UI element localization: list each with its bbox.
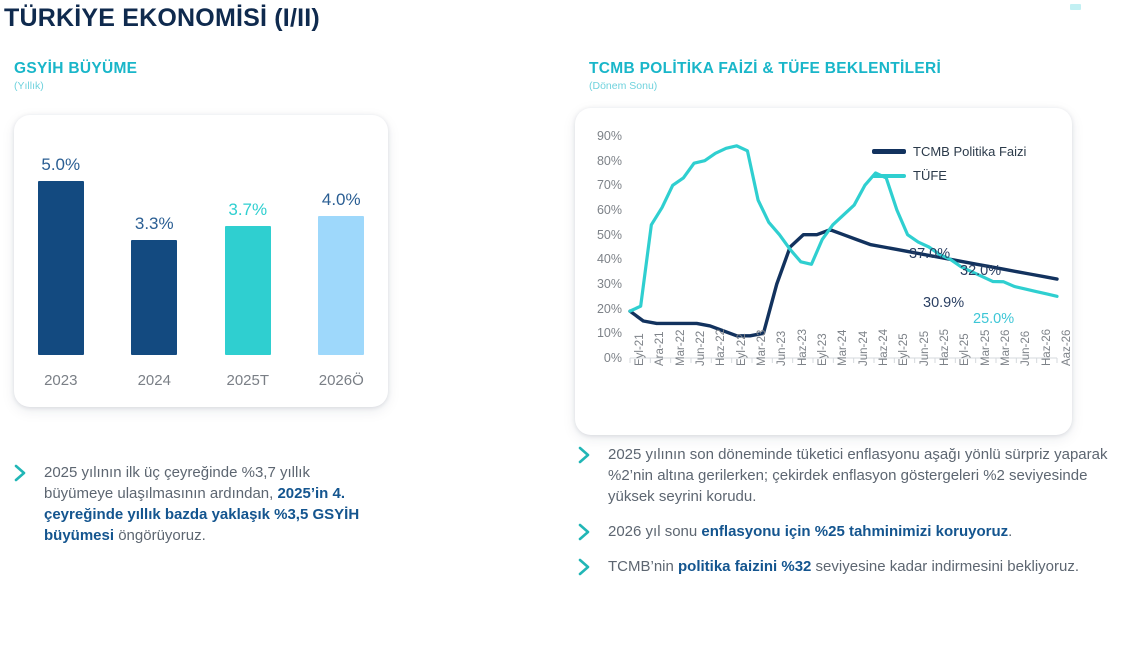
chevron-right-icon <box>578 444 600 464</box>
chevron-right-icon <box>14 462 36 482</box>
legend-item-cpi[interactable]: TÜFE <box>872 168 947 183</box>
slide-root: TÜRKİYE EKONOMİSİ (I/II) GSYİH BÜYÜME (Y… <box>0 0 1129 671</box>
x-axis-tick-label: Mar-26 <box>1000 330 1012 366</box>
data-annotation: 30.9% <box>923 295 964 311</box>
rate-bullet-text: 2026 yıl sonu enflasyonu için %25 tahmin… <box>608 521 1012 542</box>
x-axis-tick-label: Haz-24 <box>878 329 890 366</box>
x-axis-tick-label: Mar-25 <box>980 330 992 366</box>
gdp-bar-chart: 5.0%20233.3%20243.7%2025T4.0%2026Ö <box>14 115 388 407</box>
x-axis-tick-label: Jun-24 <box>858 331 870 366</box>
x-axis-tick-label: Jun-23 <box>776 331 788 366</box>
x-axis-tick-label: Jun-22 <box>695 331 707 366</box>
x-axis-tick-label: Haz-25 <box>939 329 951 366</box>
x-axis-tick-label: Haz-22 <box>715 329 727 366</box>
x-axis-tick-label: Eyl-21 <box>634 333 646 366</box>
bar-group: 3.7%2025T <box>201 115 295 407</box>
rate-bullet-text: TCMB’nin politika faizini %32 seviyesine… <box>608 556 1079 577</box>
x-axis-tick-label: Mar-24 <box>837 330 849 366</box>
legend-label: TÜFE <box>913 168 947 183</box>
data-annotation: 25.0% <box>973 311 1014 327</box>
x-axis-tick-label: Mar-23 <box>756 330 768 366</box>
bar-2024[interactable] <box>131 240 177 355</box>
rate-bullet-list: 2025 yılının son döneminde tüketici enfl… <box>578 444 1123 591</box>
bar-value-label: 3.7% <box>228 200 267 220</box>
x-axis-tick-label: Jun-26 <box>1020 331 1032 366</box>
rate-section-subtitle: (Dönem Sonu) <box>589 80 941 92</box>
x-axis-tick-label: Eyl-22 <box>736 333 748 366</box>
bar-group: 3.3%2024 <box>108 115 202 407</box>
x-axis-tick-label: Haz-26 <box>1041 329 1053 366</box>
gdp-bullet-item: 2025 yılının ilk üç çeyreğinde %3,7 yıll… <box>14 462 374 546</box>
bar-2026Ö[interactable] <box>318 216 364 355</box>
series-line-cpi <box>630 146 1057 311</box>
rate-chart-card: 0%10%20%30%40%50%60%70%80%90%Eyl-21Ara-2… <box>575 108 1072 435</box>
data-annotation: 37.0% <box>909 246 950 262</box>
gdp-section-subtitle: (Yıllık) <box>14 80 137 92</box>
rate-bullet-item: 2026 yıl sonu enflasyonu için %25 tahmin… <box>578 521 1123 542</box>
x-axis-tick-label: Aaz-26 <box>1061 330 1073 366</box>
gdp-section-heading: GSYİH BÜYÜME (Yıllık) <box>14 60 137 92</box>
rate-bullet-item: 2025 yılının son döneminde tüketici enfl… <box>578 444 1123 507</box>
x-axis-tick-label: Mar-22 <box>675 330 687 366</box>
rate-bullet-text: 2025 yılının son döneminde tüketici enfl… <box>608 444 1123 507</box>
legend-swatch <box>872 149 906 154</box>
x-axis-tick-label: Haz-23 <box>797 329 809 366</box>
rate-bullet-item: TCMB’nin politika faizini %32 seviyesine… <box>578 556 1123 577</box>
bar-category-label: 2025T <box>226 372 269 389</box>
bar-value-label: 4.0% <box>322 190 361 210</box>
x-axis-tick-label: Eyl-25 <box>959 333 971 366</box>
rate-section-title: TCMB POLİTİKA FAİZİ & TÜFE BEKLENTİLERİ <box>589 60 941 78</box>
gdp-section-title: GSYİH BÜYÜME <box>14 60 137 78</box>
bar-category-label: 2026Ö <box>319 372 364 389</box>
x-axis-tick-label: Jun-25 <box>919 331 931 366</box>
bar-value-label: 3.3% <box>135 214 174 234</box>
gdp-bullet-list: 2025 yılının ilk üç çeyreğinde %3,7 yıll… <box>14 462 374 560</box>
bar-value-label: 5.0% <box>41 155 80 175</box>
bar-group: 4.0%2026Ö <box>295 115 389 407</box>
x-axis-tick-label: Eyl-25 <box>898 333 910 366</box>
page-title: TÜRKİYE EKONOMİSİ (I/II) <box>4 4 320 33</box>
bar-2023[interactable] <box>38 181 84 355</box>
bar-category-label: 2024 <box>138 372 171 389</box>
bar-category-label: 2023 <box>44 372 77 389</box>
rate-line-chart: 0%10%20%30%40%50%60%70%80%90%Eyl-21Ara-2… <box>575 108 1072 435</box>
rate-section-heading: TCMB POLİTİKA FAİZİ & TÜFE BEKLENTİLERİ … <box>589 60 941 92</box>
gdp-bullet-text: 2025 yılının ilk üç çeyreğinde %3,7 yıll… <box>44 462 374 546</box>
legend-label: TCMB Politika Faizi <box>913 144 1026 159</box>
gdp-chart-card: 5.0%20233.3%20243.7%2025T4.0%2026Ö <box>14 115 388 407</box>
x-axis-tick-label: Eyl-23 <box>817 333 829 366</box>
chevron-right-icon <box>578 556 600 576</box>
legend-swatch <box>872 174 906 178</box>
chevron-right-icon <box>578 521 600 541</box>
x-axis-tick-label: Ara-21 <box>654 331 666 366</box>
legend-item-policy-rate[interactable]: TCMB Politika Faizi <box>872 144 1026 159</box>
bar-2025T[interactable] <box>225 226 271 355</box>
data-annotation: 32.0% <box>960 263 1001 279</box>
decorative-artifact <box>1070 4 1081 10</box>
bar-group: 5.0%2023 <box>14 115 108 407</box>
